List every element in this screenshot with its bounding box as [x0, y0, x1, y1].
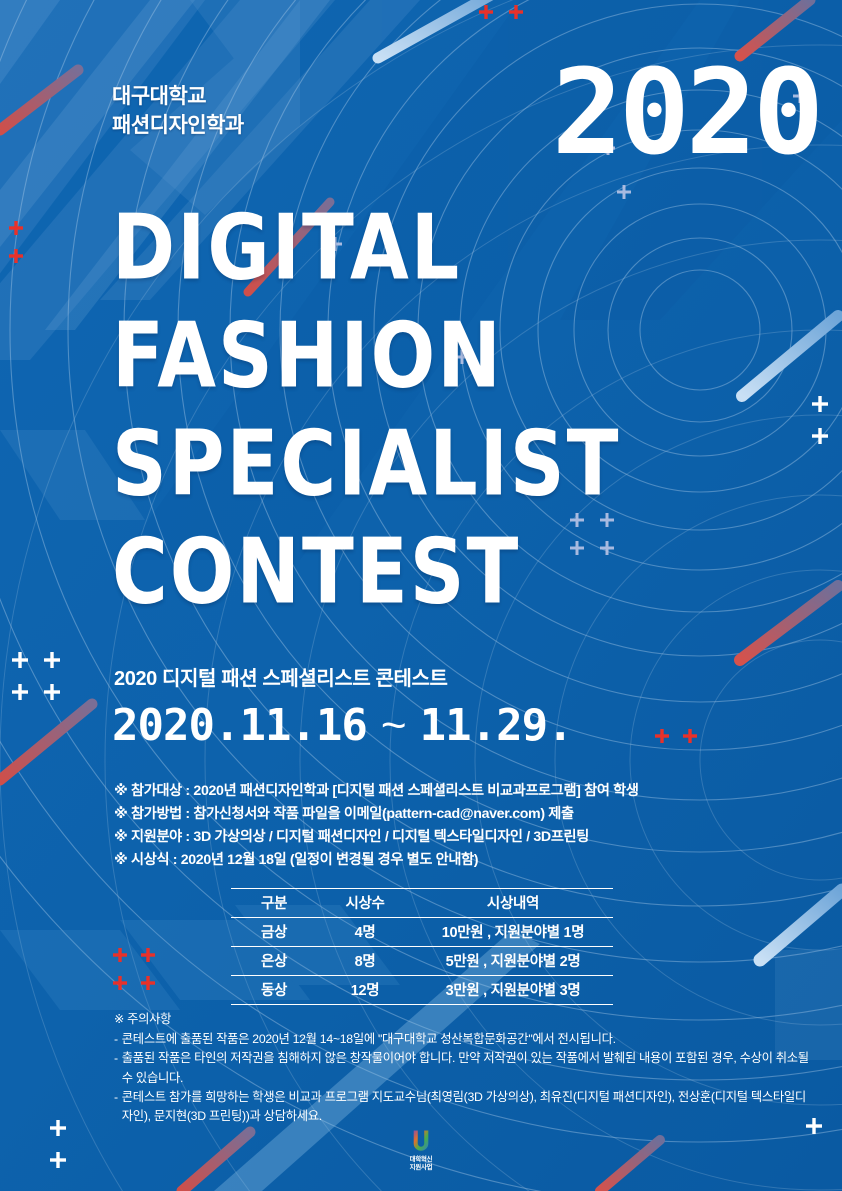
cell-count: 4명 [317, 918, 413, 947]
department-name: 패션디자인학과 [112, 112, 244, 141]
table-row: 동상 12명 3만원 , 지원분야별 3명 [231, 976, 613, 1005]
note-item: - 출품된 작품은 타인의 저작권을 침해하지 않은 창작물이어야 합니다. 만… [114, 1049, 814, 1087]
awards-table: 구분 시상수 시상내역 금상 4명 10만원 , 지원분야별 1명 은상 8명 … [231, 888, 613, 1005]
cell-count: 12명 [317, 976, 413, 1005]
info-item-fields: ※ 지원분야 : 3D 가상의상 / 디지털 패션디자인 / 디지털 텍스타일디… [114, 826, 814, 849]
note-bullet: - [114, 1030, 118, 1049]
notes-section: ※ 주의사항 - 콘테스트에 출품된 작품은 2020년 12월 14~18일에… [114, 1010, 814, 1126]
info-item-method: ※ 참가방법 : 참가신청서와 작품 파일을 이메일(pattern-cad@n… [114, 803, 814, 826]
footer-logo: 대학혁신 지원사업 [0, 1128, 842, 1172]
table-header-details: 시상내역 [413, 889, 613, 918]
cell-details: 5만원 , 지원분야별 2명 [413, 947, 613, 976]
table-header-row: 구분 시상수 시상내역 [231, 889, 613, 918]
university-name: 대구대학교 [112, 83, 244, 112]
info-item-target: ※ 참가대상 : 2020년 패션디자인학과 [디지털 패션 스페셜리스트 비교… [114, 780, 814, 803]
date-separator: ~ [367, 701, 420, 750]
note-bullet: - [114, 1088, 118, 1126]
note-text: 콘테스트에 출품된 작품은 2020년 12월 14~18일에 "대구대학교 성… [122, 1030, 814, 1049]
cell-count: 8명 [317, 947, 413, 976]
title-line-2: FASHION [112, 304, 621, 408]
title-line-3: SPECIALIST [112, 412, 621, 516]
date-start: 2020.11.16 [112, 700, 367, 751]
table-row: 금상 4명 10만원 , 지원분야별 1명 [231, 918, 613, 947]
department-heading: 대구대학교 패션디자인학과 [112, 83, 244, 141]
note-item: - 콘테스트에 출품된 작품은 2020년 12월 14~18일에 "대구대학교… [114, 1030, 814, 1049]
logo-caption-line-2: 지원사업 [410, 1164, 433, 1172]
korean-subtitle: 2020 디지털 패션 스페셜리스트 콘테스트 [114, 662, 448, 691]
table-header-category: 구분 [231, 889, 317, 918]
table-header-count: 시상수 [317, 889, 413, 918]
main-title: DIGITAL FASHION SPECIALIST CONTEST [112, 196, 621, 609]
poster-canvas: 대구대학교 패션디자인학과 2020 DIGITAL FASHION SPECI… [0, 0, 842, 1191]
cell-details: 10만원 , 지원분야별 1명 [413, 918, 613, 947]
table-row: 은상 8명 5만원 , 지원분야별 2명 [231, 947, 613, 976]
cell-category: 동상 [231, 976, 317, 1005]
date-range: 2020.11.16~11.29. [112, 700, 573, 751]
year-heading: 2020 [552, 58, 820, 167]
notes-heading: ※ 주의사항 [114, 1010, 814, 1029]
info-list: ※ 참가대상 : 2020년 패션디자인학과 [디지털 패션 스페셜리스트 비교… [114, 780, 814, 872]
note-text: 콘테스트 참가를 희망하는 학생은 비교과 프로그램 지도교수님(최영림(3D … [122, 1088, 814, 1126]
note-bullet: - [114, 1049, 118, 1087]
cell-category: 금상 [231, 918, 317, 947]
info-item-ceremony: ※ 시상식 : 2020년 12월 18일 (일정이 변경될 경우 별도 안내함… [114, 849, 814, 872]
note-item: - 콘테스트 참가를 희망하는 학생은 비교과 프로그램 지도교수님(최영림(3… [114, 1088, 814, 1126]
date-end: 11.29. [420, 700, 573, 751]
cell-details: 3만원 , 지원분야별 3명 [413, 976, 613, 1005]
title-line-1: DIGITAL [112, 196, 621, 300]
title-line-4: CONTEST [112, 520, 621, 624]
cell-category: 은상 [231, 947, 317, 976]
logo-caption: 대학혁신 지원사업 [410, 1156, 433, 1172]
university-innovation-u-icon [408, 1128, 434, 1154]
logo-caption-line-1: 대학혁신 [410, 1156, 433, 1164]
note-text: 출품된 작품은 타인의 저작권을 침해하지 않은 창작물이어야 합니다. 만약 … [122, 1049, 814, 1087]
